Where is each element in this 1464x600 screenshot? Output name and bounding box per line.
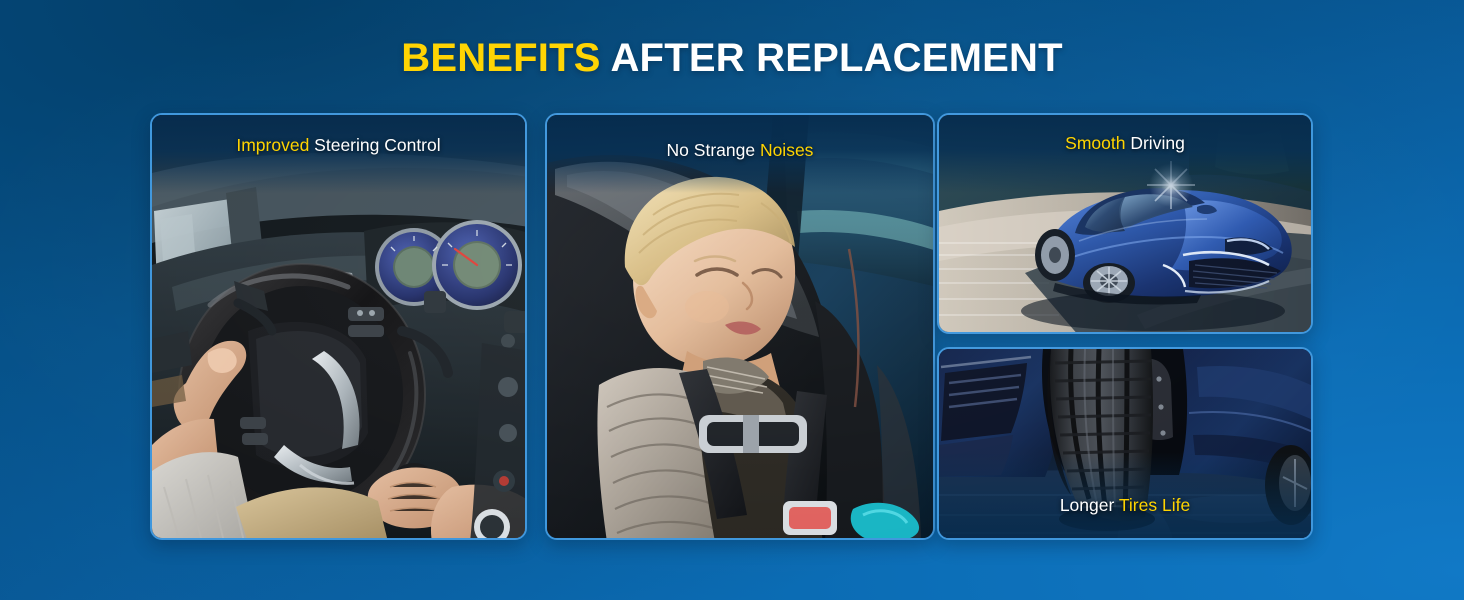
benefit-card-smooth-driving: Smooth Driving [937,113,1313,334]
label-highlight: Smooth [1065,133,1125,153]
page-title: BENEFITS AFTER REPLACEMENT [0,36,1464,80]
label-highlight: Noises [760,140,814,160]
page-title-highlight: BENEFITS [401,36,600,80]
benefit-card-no-strange-noises: No Strange Noises [545,113,935,540]
label-highlight: Tires Life [1119,495,1190,515]
benefit-card-improved-steering-control: Improved Steering Control [150,113,527,540]
label-rest: No Strange [667,140,760,160]
card-top-veil [939,115,1311,193]
benefit-label-smooth-driving: Smooth Driving [939,133,1311,154]
label-rest: Driving [1125,133,1184,153]
label-rest: Longer [1060,495,1119,515]
benefit-label-improved-steering-control: Improved Steering Control [152,135,525,156]
page-title-rest: AFTER REPLACEMENT [601,36,1063,80]
label-rest: Steering Control [309,135,440,155]
benefit-card-longer-tires-life: Longer Tires Life [937,347,1313,540]
benefit-label-longer-tires-life: Longer Tires Life [939,495,1311,516]
benefits-banner: BENEFITS AFTER REPLACEMENT [0,0,1464,600]
label-highlight: Improved [236,135,309,155]
benefit-label-no-strange-noises: No Strange Noises [547,140,933,161]
